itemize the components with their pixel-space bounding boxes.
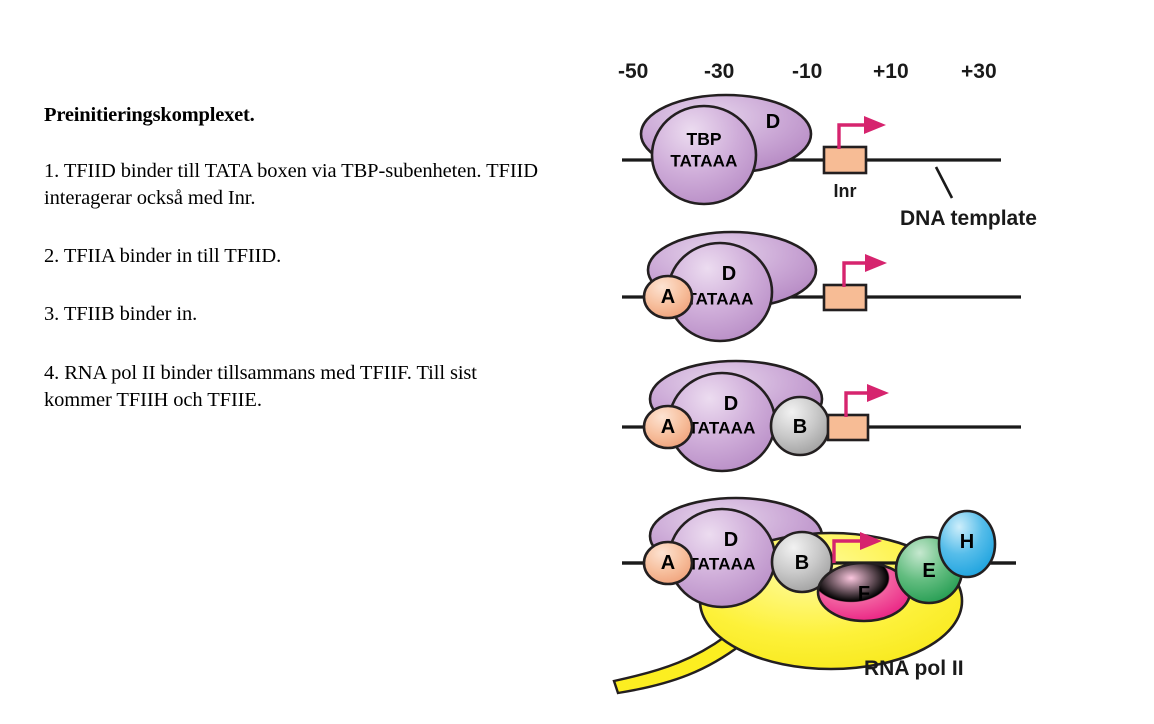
inr-box: [824, 147, 866, 173]
page-title: Preinitieringskomplexet.: [44, 103, 544, 128]
tfiia-a-label: A: [661, 416, 675, 438]
rna-pol-ii-label: RNA pol II: [864, 657, 964, 680]
tbp-label: TBP: [687, 129, 722, 149]
dna-template-leader-line: [936, 167, 952, 198]
step-item-2: 2. TFIIA binder in till TFIID.: [44, 243, 544, 270]
transcription-start-arrow: [846, 384, 889, 417]
ctd-tail: [614, 636, 742, 693]
panel-3-tfiib-binding: D TATAAA A B: [622, 361, 1021, 471]
axis-tick--10: -10: [792, 60, 822, 83]
axis-tick--50: -50: [618, 60, 648, 83]
preinitiation-complex-diagram: -50 -30 -10 +10 +30 D TBP TATAAA Inr DNA…: [596, 36, 1152, 696]
panel-4-holoenzyme-assembly: D TATAAA A B F E H RNA pol II: [614, 498, 1016, 693]
slide-text-column: Preinitieringskomplexet. 1. TFIID binder…: [44, 103, 544, 414]
tfiid-d-label: D: [724, 529, 738, 551]
step-item-4: 4. RNA pol II binder tillsammans med TFI…: [44, 360, 544, 415]
tata-box-sequence: TATAAA: [688, 555, 755, 574]
tfiia-a-label: A: [661, 552, 675, 574]
tfiih-h-label: H: [960, 531, 974, 553]
tfiib-b-label: B: [795, 552, 809, 574]
panel-2-tfiia-binding: D TATAAA A: [622, 232, 1021, 341]
axis-tick-+30: +30: [961, 60, 997, 83]
tfiid-d-label: D: [722, 263, 736, 285]
axis-tick--30: -30: [704, 60, 734, 83]
axis-tick-+10: +10: [873, 60, 909, 83]
tata-box-sequence: TATAAA: [670, 152, 737, 171]
coordinate-axis-labels: -50 -30 -10 +10 +30: [618, 60, 997, 83]
tfiid-d-label: D: [724, 393, 738, 415]
tfiid-d-label: D: [766, 111, 780, 133]
transcription-start-arrow: [844, 254, 887, 287]
tata-box-sequence: TATAAA: [688, 419, 755, 438]
tfiia-a-label: A: [661, 286, 675, 308]
transcription-start-arrow: [839, 116, 886, 149]
inr-label: Inr: [833, 181, 856, 201]
step-item-3: 3. TFIIB binder in.: [44, 301, 544, 328]
dna-template-label: DNA template: [900, 207, 1037, 230]
panel-1-tfiid-binding: D TBP TATAAA Inr DNA template: [622, 95, 1037, 230]
inr-box: [828, 415, 868, 440]
inr-box: [824, 285, 866, 310]
tfiie-e-label: E: [922, 560, 935, 582]
tata-box-sequence: TATAAA: [686, 290, 753, 309]
step-item-1: 1. TFIID binder till TATA boxen via TBP-…: [44, 158, 544, 213]
tfiif-f-label: F: [858, 583, 870, 605]
tfiib-b-label: B: [793, 416, 807, 438]
